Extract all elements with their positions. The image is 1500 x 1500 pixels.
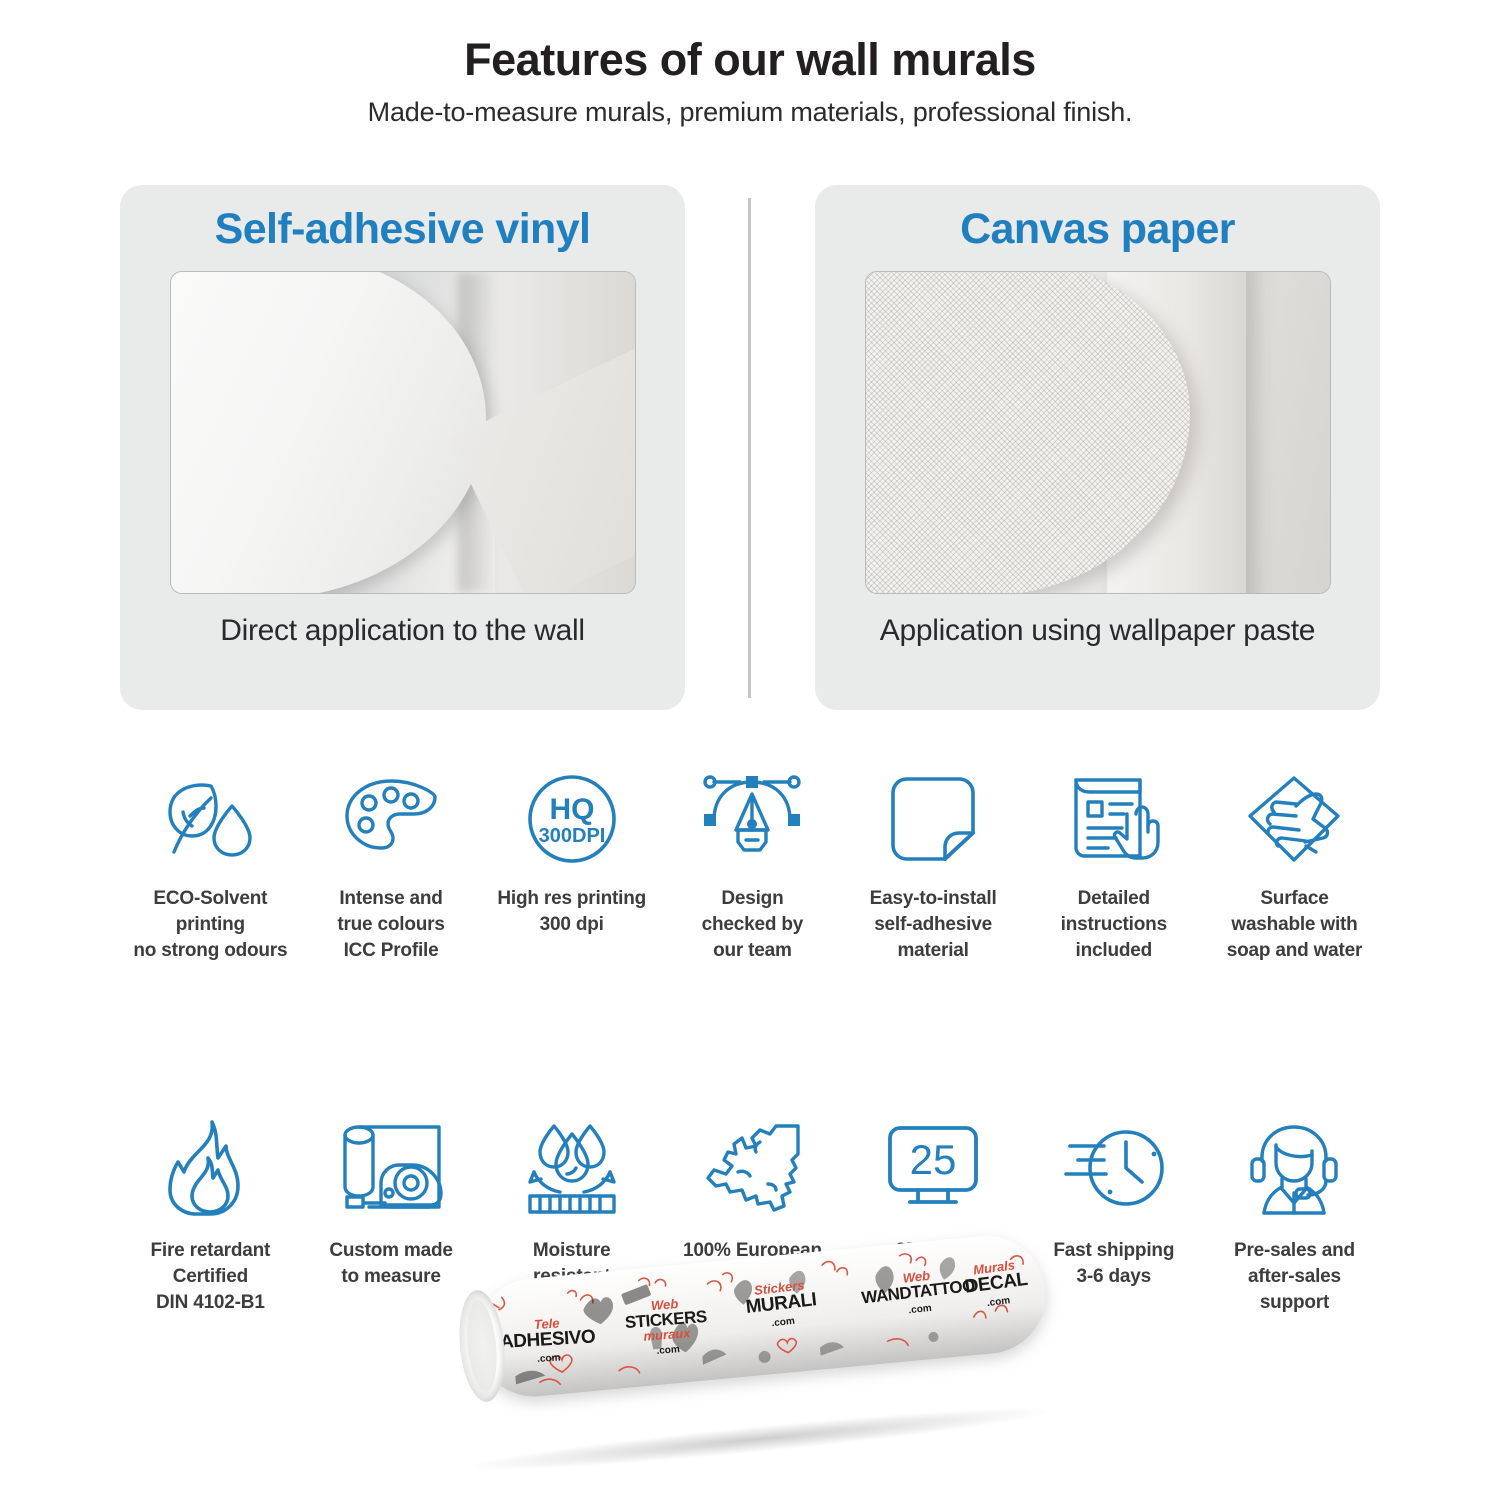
instructions-hand-icon <box>1066 760 1162 878</box>
brand-suffix: .com <box>986 1295 1011 1309</box>
hand-wiping-cloth-icon <box>1244 760 1344 878</box>
paint-palette-icon <box>341 760 441 878</box>
brand-suffix: .com <box>537 1353 561 1365</box>
card-caption: Direct application to the wall <box>220 612 585 650</box>
canvas-paper-photo <box>865 271 1331 594</box>
product-card-canvas-paper[interactable]: Canvas paper Application using wallpaper… <box>815 185 1380 710</box>
feature-easy-install: Easy-to-installself-adhesivematerial <box>843 760 1024 963</box>
feature-design-checked: Designchecked byour team <box>662 760 843 963</box>
card-title: Canvas paper <box>960 203 1235 257</box>
tube-brand-muralsdecal: Murals DECAL .com <box>962 1257 1031 1313</box>
feature-label: Detailedinstructionsincluded <box>1061 886 1167 963</box>
support-headset-icon <box>1246 1105 1342 1230</box>
brand-suffix: .com <box>908 1303 932 1317</box>
tube-brand-teleadhesivo: Tele ADHESIVO .com <box>499 1314 597 1368</box>
tube-brand-murali: Stickers MURALI .com <box>743 1277 819 1333</box>
brand-suffix: .com <box>656 1344 680 1357</box>
page-header: Features of our wall murals Made-to-meas… <box>0 0 1500 128</box>
features-infographic-page: Features of our wall murals Made-to-meas… <box>0 0 1500 1500</box>
pen-tool-bezier-icon <box>700 760 804 878</box>
feature-washable: Surfacewashable withsoap and water <box>1204 760 1385 963</box>
branded-shipping-tube: Tele ADHESIVO .com Web STICKERS muraux .… <box>420 1240 1100 1470</box>
feature-instructions: Detailedinstructionsincluded <box>1023 760 1204 963</box>
page-title: Features of our wall murals <box>0 36 1500 83</box>
europe-map-icon <box>702 1105 802 1230</box>
feature-label: Intense andtrue coloursICC Profile <box>337 886 444 963</box>
roll-tape-measure-icon <box>339 1105 443 1230</box>
feature-label: Fire retardantCertifiedDIN 4102-B1 <box>151 1238 271 1315</box>
flame-icon <box>168 1105 252 1230</box>
feature-label: Designchecked byour team <box>702 886 804 963</box>
hq-300dpi-badge-icon: HQ 300DPI <box>526 760 618 878</box>
feature-fire-retardant: Fire retardantCertifiedDIN 4102-B1 <box>120 1105 301 1315</box>
water-repellent-icon <box>520 1105 624 1230</box>
card-title: Self-adhesive vinyl <box>215 203 591 257</box>
hq-badge-bottom: 300DPI <box>538 825 605 847</box>
feature-label: Easy-to-installself-adhesivematerial <box>870 886 997 963</box>
features-row-1: ECO-Solventprintingno strong odours Inte… <box>120 760 1385 963</box>
tube-brand-stickersmuraux: Web STICKERS muraux .com <box>623 1295 709 1360</box>
feature-label: Surfacewashable withsoap and water <box>1227 886 1363 963</box>
feature-true-colours: Intense andtrue coloursICC Profile <box>301 760 482 963</box>
peeling-sticker-icon <box>887 760 979 878</box>
leaf-droplet-icon <box>162 760 258 878</box>
tube-shadow <box>460 1397 1060 1480</box>
brand-main: ADHESIVO <box>500 1327 596 1352</box>
card-caption: Application using wallpaper paste <box>880 612 1315 650</box>
vinyl-roll-photo <box>170 271 636 594</box>
features-grid: ECO-Solventprintingno strong odours Inte… <box>120 760 1385 1316</box>
feature-eco-solvent: ECO-Solventprintingno strong odours <box>120 760 301 963</box>
page-subtitle: Made-to-measure murals, premium material… <box>0 97 1500 128</box>
hq-badge-top: HQ <box>549 793 594 826</box>
feature-label: ECO-Solventprintingno strong odours <box>133 886 287 963</box>
monitor-number: 25 <box>910 1136 957 1183</box>
cards-divider <box>748 198 751 698</box>
fast-clock-icon <box>1062 1105 1166 1230</box>
feature-label: Pre-sales andafter-salessupport <box>1234 1238 1355 1315</box>
tube-body: Tele ADHESIVO .com Web STICKERS muraux .… <box>470 1230 1051 1401</box>
brand-suffix: .com <box>771 1316 795 1330</box>
feature-support: Pre-sales andafter-salessupport <box>1204 1105 1385 1315</box>
product-card-self-adhesive-vinyl[interactable]: Self-adhesive vinyl Direct application t… <box>120 185 685 710</box>
monitor-25-icon: 25 <box>884 1105 982 1230</box>
feature-label: High res printing300 dpi <box>497 886 646 938</box>
feature-high-res: HQ 300DPI High res printing300 dpi <box>481 760 662 963</box>
